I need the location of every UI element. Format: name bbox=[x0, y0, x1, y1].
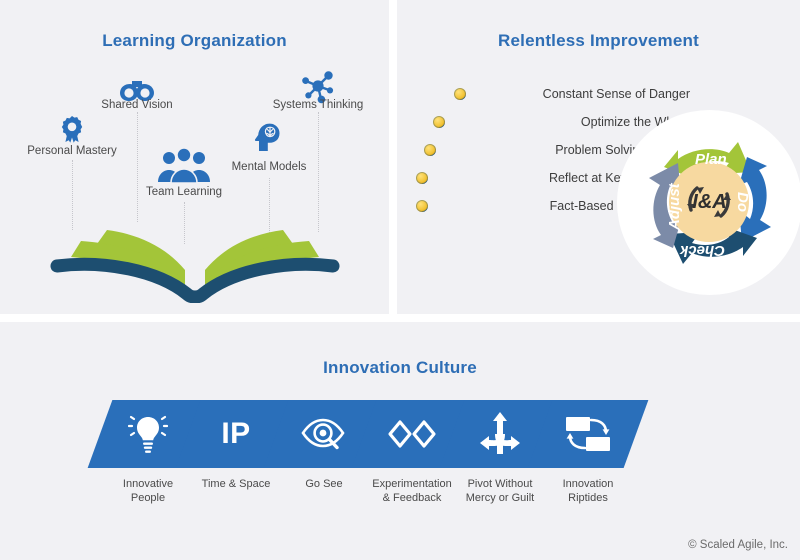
label-mental-models: Mental Models bbox=[232, 161, 307, 173]
pdca-cycle-diagram: Plan Do Check Adjust I&A bbox=[617, 110, 800, 295]
open-book-graphic bbox=[45, 208, 345, 308]
innovation-culture-row: Innovative People IP Time & Space bbox=[0, 400, 800, 540]
pdca-center-label: I&A bbox=[617, 191, 800, 214]
bullet-icon bbox=[424, 144, 436, 156]
pdca-label-check: Check bbox=[680, 242, 725, 259]
copyright-text: © Scaled Agile, Inc. bbox=[688, 539, 788, 551]
ip-text: IP bbox=[221, 417, 250, 451]
list-item-label: Constant Sense of Danger bbox=[543, 87, 690, 101]
bullet-icon bbox=[454, 88, 466, 100]
diagram-canvas: Learning Organization Personal Mastery bbox=[0, 0, 800, 560]
pdca-label-plan: Plan bbox=[695, 151, 727, 168]
label-shared-vision: Shared Vision bbox=[101, 99, 172, 111]
label-team-learning: Team Learning bbox=[146, 186, 222, 198]
stem-shared-vision bbox=[137, 112, 138, 222]
bullet-icon bbox=[416, 200, 428, 212]
parallelogram-shape bbox=[528, 400, 649, 468]
panel-title-innovation-culture: Innovation Culture bbox=[0, 358, 800, 378]
bullet-icon bbox=[433, 116, 445, 128]
head-brain-icon bbox=[254, 122, 284, 152]
label-systems-thinking: Systems Thinking bbox=[273, 99, 364, 111]
panel-title-learning-organization: Learning Organization bbox=[0, 31, 389, 51]
innovation-cell-innovation-riptides[interactable]: Innovation Riptides bbox=[532, 400, 644, 505]
bullet-icon bbox=[416, 172, 428, 184]
gear-award-icon bbox=[60, 115, 84, 143]
innovation-cell-label: Innovation Riptides bbox=[532, 477, 644, 505]
list-item: Constant Sense of Danger bbox=[440, 80, 690, 108]
swap-boxes-icon bbox=[540, 400, 636, 468]
panel-title-relentless-improvement: Relentless Improvement bbox=[397, 31, 800, 51]
label-personal-mastery: Personal Mastery bbox=[27, 145, 116, 157]
people-group-icon bbox=[157, 148, 211, 184]
